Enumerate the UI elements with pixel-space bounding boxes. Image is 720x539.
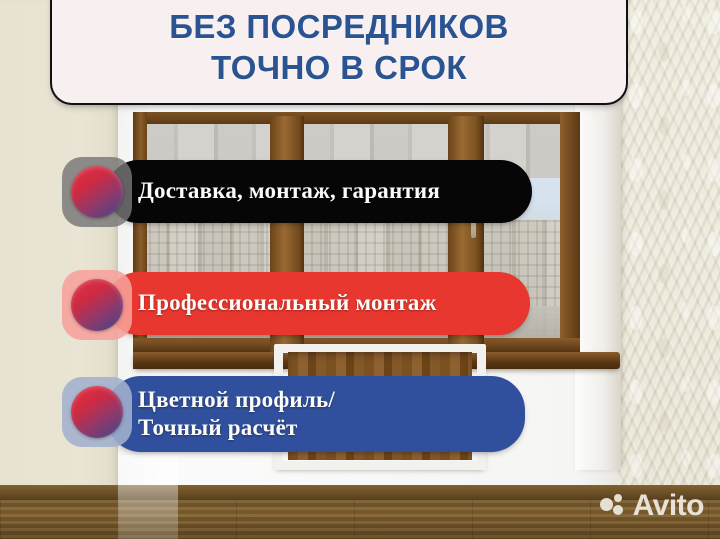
window-sash-right bbox=[560, 112, 580, 352]
bullet-dot-icon-3 bbox=[71, 386, 123, 438]
feature-label-delivery: Доставка, монтаж, гарантия bbox=[107, 177, 440, 205]
feature-pill-installation: Профессиональный монтаж bbox=[107, 272, 530, 335]
page-title: БЕЗ ПОСРЕДНИКОВ ТОЧНО В СРОК bbox=[169, 7, 509, 88]
avito-watermark: Avito bbox=[600, 491, 704, 521]
window-sash-top bbox=[140, 112, 580, 124]
feature-label-installation: Профессиональный монтаж bbox=[107, 289, 436, 317]
avito-wordmark: Avito bbox=[633, 491, 704, 521]
feature-label-profile: Цветной профиль/ Точный расчёт bbox=[107, 386, 335, 442]
bullet-dot-icon-2 bbox=[71, 279, 123, 331]
banner-image: БЕЗ ПОСРЕДНИКОВ ТОЧНО В СРОК Доставка, м… bbox=[0, 0, 720, 539]
feature-pill-delivery: Доставка, монтаж, гарантия bbox=[107, 160, 532, 223]
headline-card: БЕЗ ПОСРЕДНИКОВ ТОЧНО В СРОК bbox=[50, 0, 628, 105]
bullet-dot-icon-1 bbox=[71, 166, 123, 218]
avito-logo-icon bbox=[600, 494, 626, 518]
feature-pill-profile: Цветной профиль/ Точный расчёт bbox=[107, 376, 525, 452]
